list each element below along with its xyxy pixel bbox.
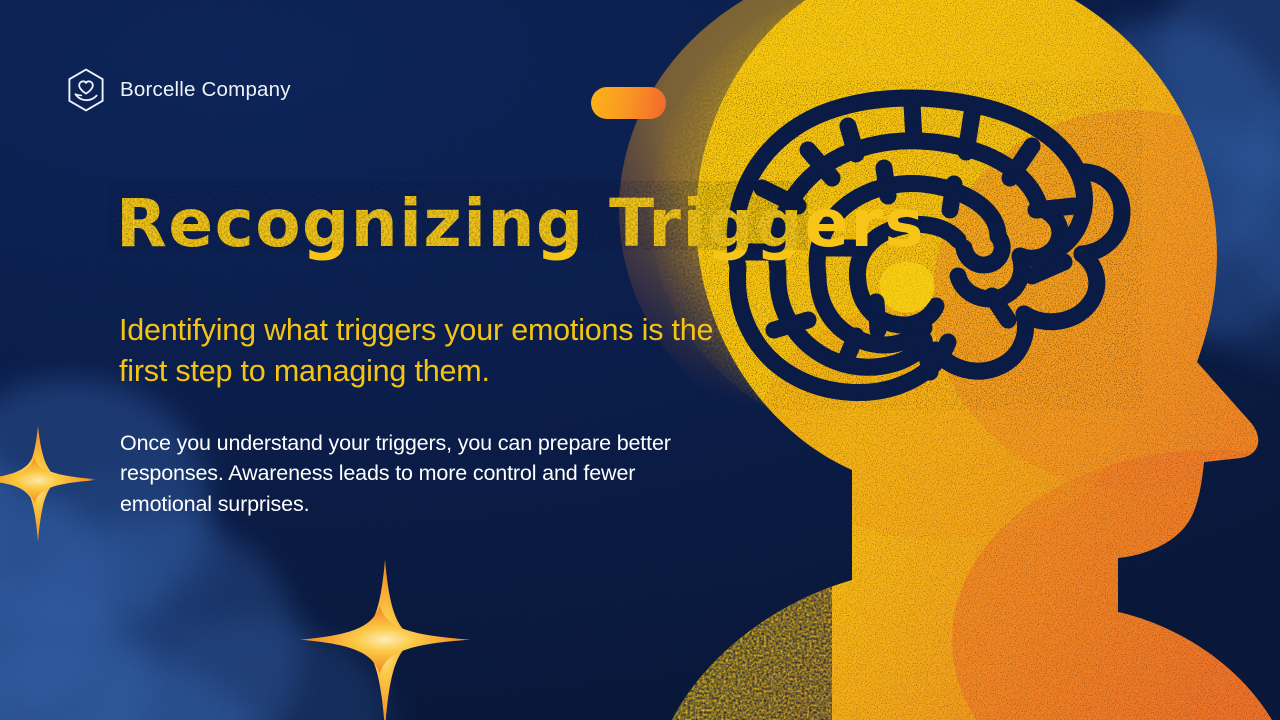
brand-logo[interactable]: Borcelle Company [66,68,291,112]
body-text: Once you understand your triggers, you c… [120,428,700,519]
shoulder-edge-dissolve [642,560,832,720]
page-title-text: Recognizing Triggers [116,185,925,262]
page-title: Recognizing Triggers [116,189,816,258]
hexagon-heart-in-hand-icon [66,68,106,112]
subtitle-text: Identifying what triggers your emotions … [119,310,759,391]
slide-canvas: Borcelle Company Recognizing Triggers Id… [0,0,1280,720]
brand-name: Borcelle Company [120,78,291,102]
accent-pill-button[interactable] [591,87,666,119]
